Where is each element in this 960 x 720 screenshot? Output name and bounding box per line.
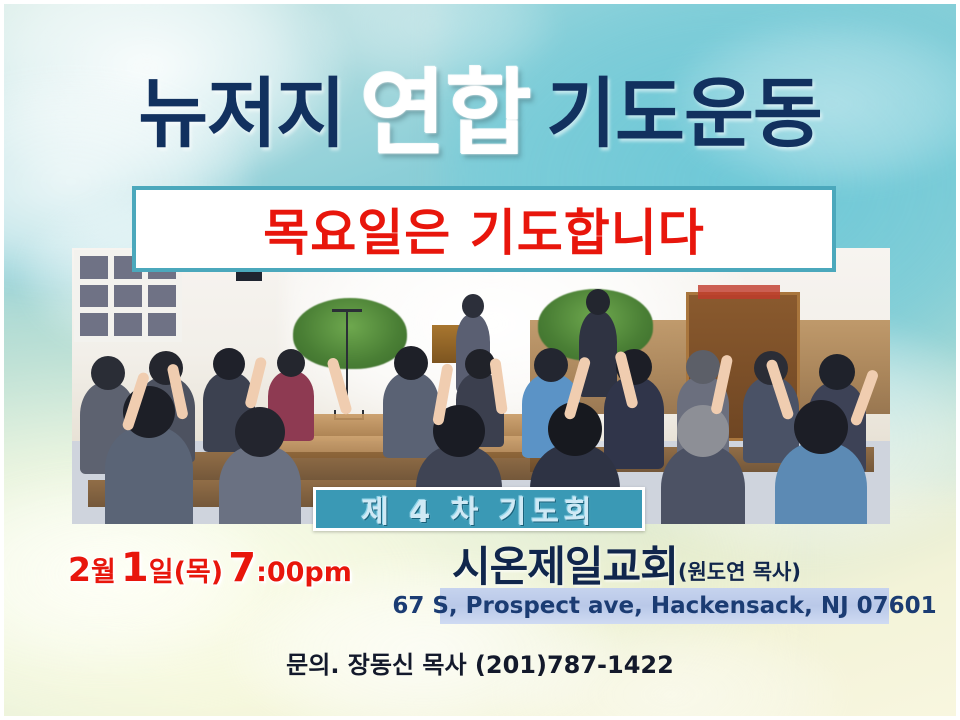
person-head — [213, 348, 245, 380]
minutes-label: :00pm — [256, 559, 352, 586]
person-head — [534, 348, 568, 382]
headline-box: 목요일은 기도합니다 — [132, 186, 836, 272]
person-head — [686, 350, 720, 384]
person-head — [394, 346, 428, 380]
congregant-front — [775, 442, 867, 524]
round-badge-text: 제 4 차 기도회 — [361, 487, 596, 531]
datetime-line: 2월 1일(목) 7:00pm — [68, 548, 352, 588]
exit-sign — [698, 285, 780, 299]
poster-title: 뉴저지 연합 기도운동 — [0, 62, 960, 156]
person-head — [235, 407, 285, 457]
headline-text: 목요일은 기도합니다 — [263, 193, 704, 265]
person-head — [277, 349, 305, 377]
person-head — [91, 356, 125, 390]
title-part-2: 기도운동 — [546, 76, 822, 152]
photo-content — [72, 248, 890, 524]
church-line: 시온제일교회(원도연 목사) — [452, 546, 801, 588]
person-head — [462, 294, 484, 318]
church-prayer-photo — [72, 248, 890, 524]
congregant-front — [219, 445, 301, 524]
person-head — [677, 405, 729, 457]
worship-leader — [579, 311, 617, 397]
person-head — [819, 354, 855, 390]
person-head — [794, 400, 848, 454]
contact-line: 문의. 장동신 목사 (201)787-1422 — [0, 645, 960, 680]
address-box: 67 S, Prospect ave, Hackensack, NJ 07601 — [440, 588, 889, 624]
title-part-1: 뉴저지 — [138, 76, 345, 152]
congregant — [383, 372, 439, 458]
congregant-front — [661, 445, 745, 524]
poster-canvas: 뉴저지 연합 기도운동 목요일은 기도합니다 — [0, 0, 960, 720]
weekday-label: (목) — [174, 559, 224, 586]
church-name: 시온제일교회 — [452, 546, 678, 588]
congregant-front — [105, 426, 193, 524]
contact-text: 문의. 장동신 목사 (201)787-1422 — [286, 651, 674, 679]
title-highlight: 연합 — [360, 68, 531, 162]
church-pastor: (원도연 목사) — [678, 562, 801, 583]
month-unit: 월 — [91, 559, 116, 586]
day-number: 1 — [121, 548, 149, 588]
address-text: 67 S, Prospect ave, Hackensack, NJ 07601 — [392, 593, 936, 619]
day-unit: 일 — [149, 559, 174, 586]
month-number: 2 — [68, 553, 91, 586]
hour-number: 7 — [228, 548, 256, 588]
person-head — [586, 289, 610, 315]
round-badge: 제 4 차 기도회 — [313, 487, 645, 531]
